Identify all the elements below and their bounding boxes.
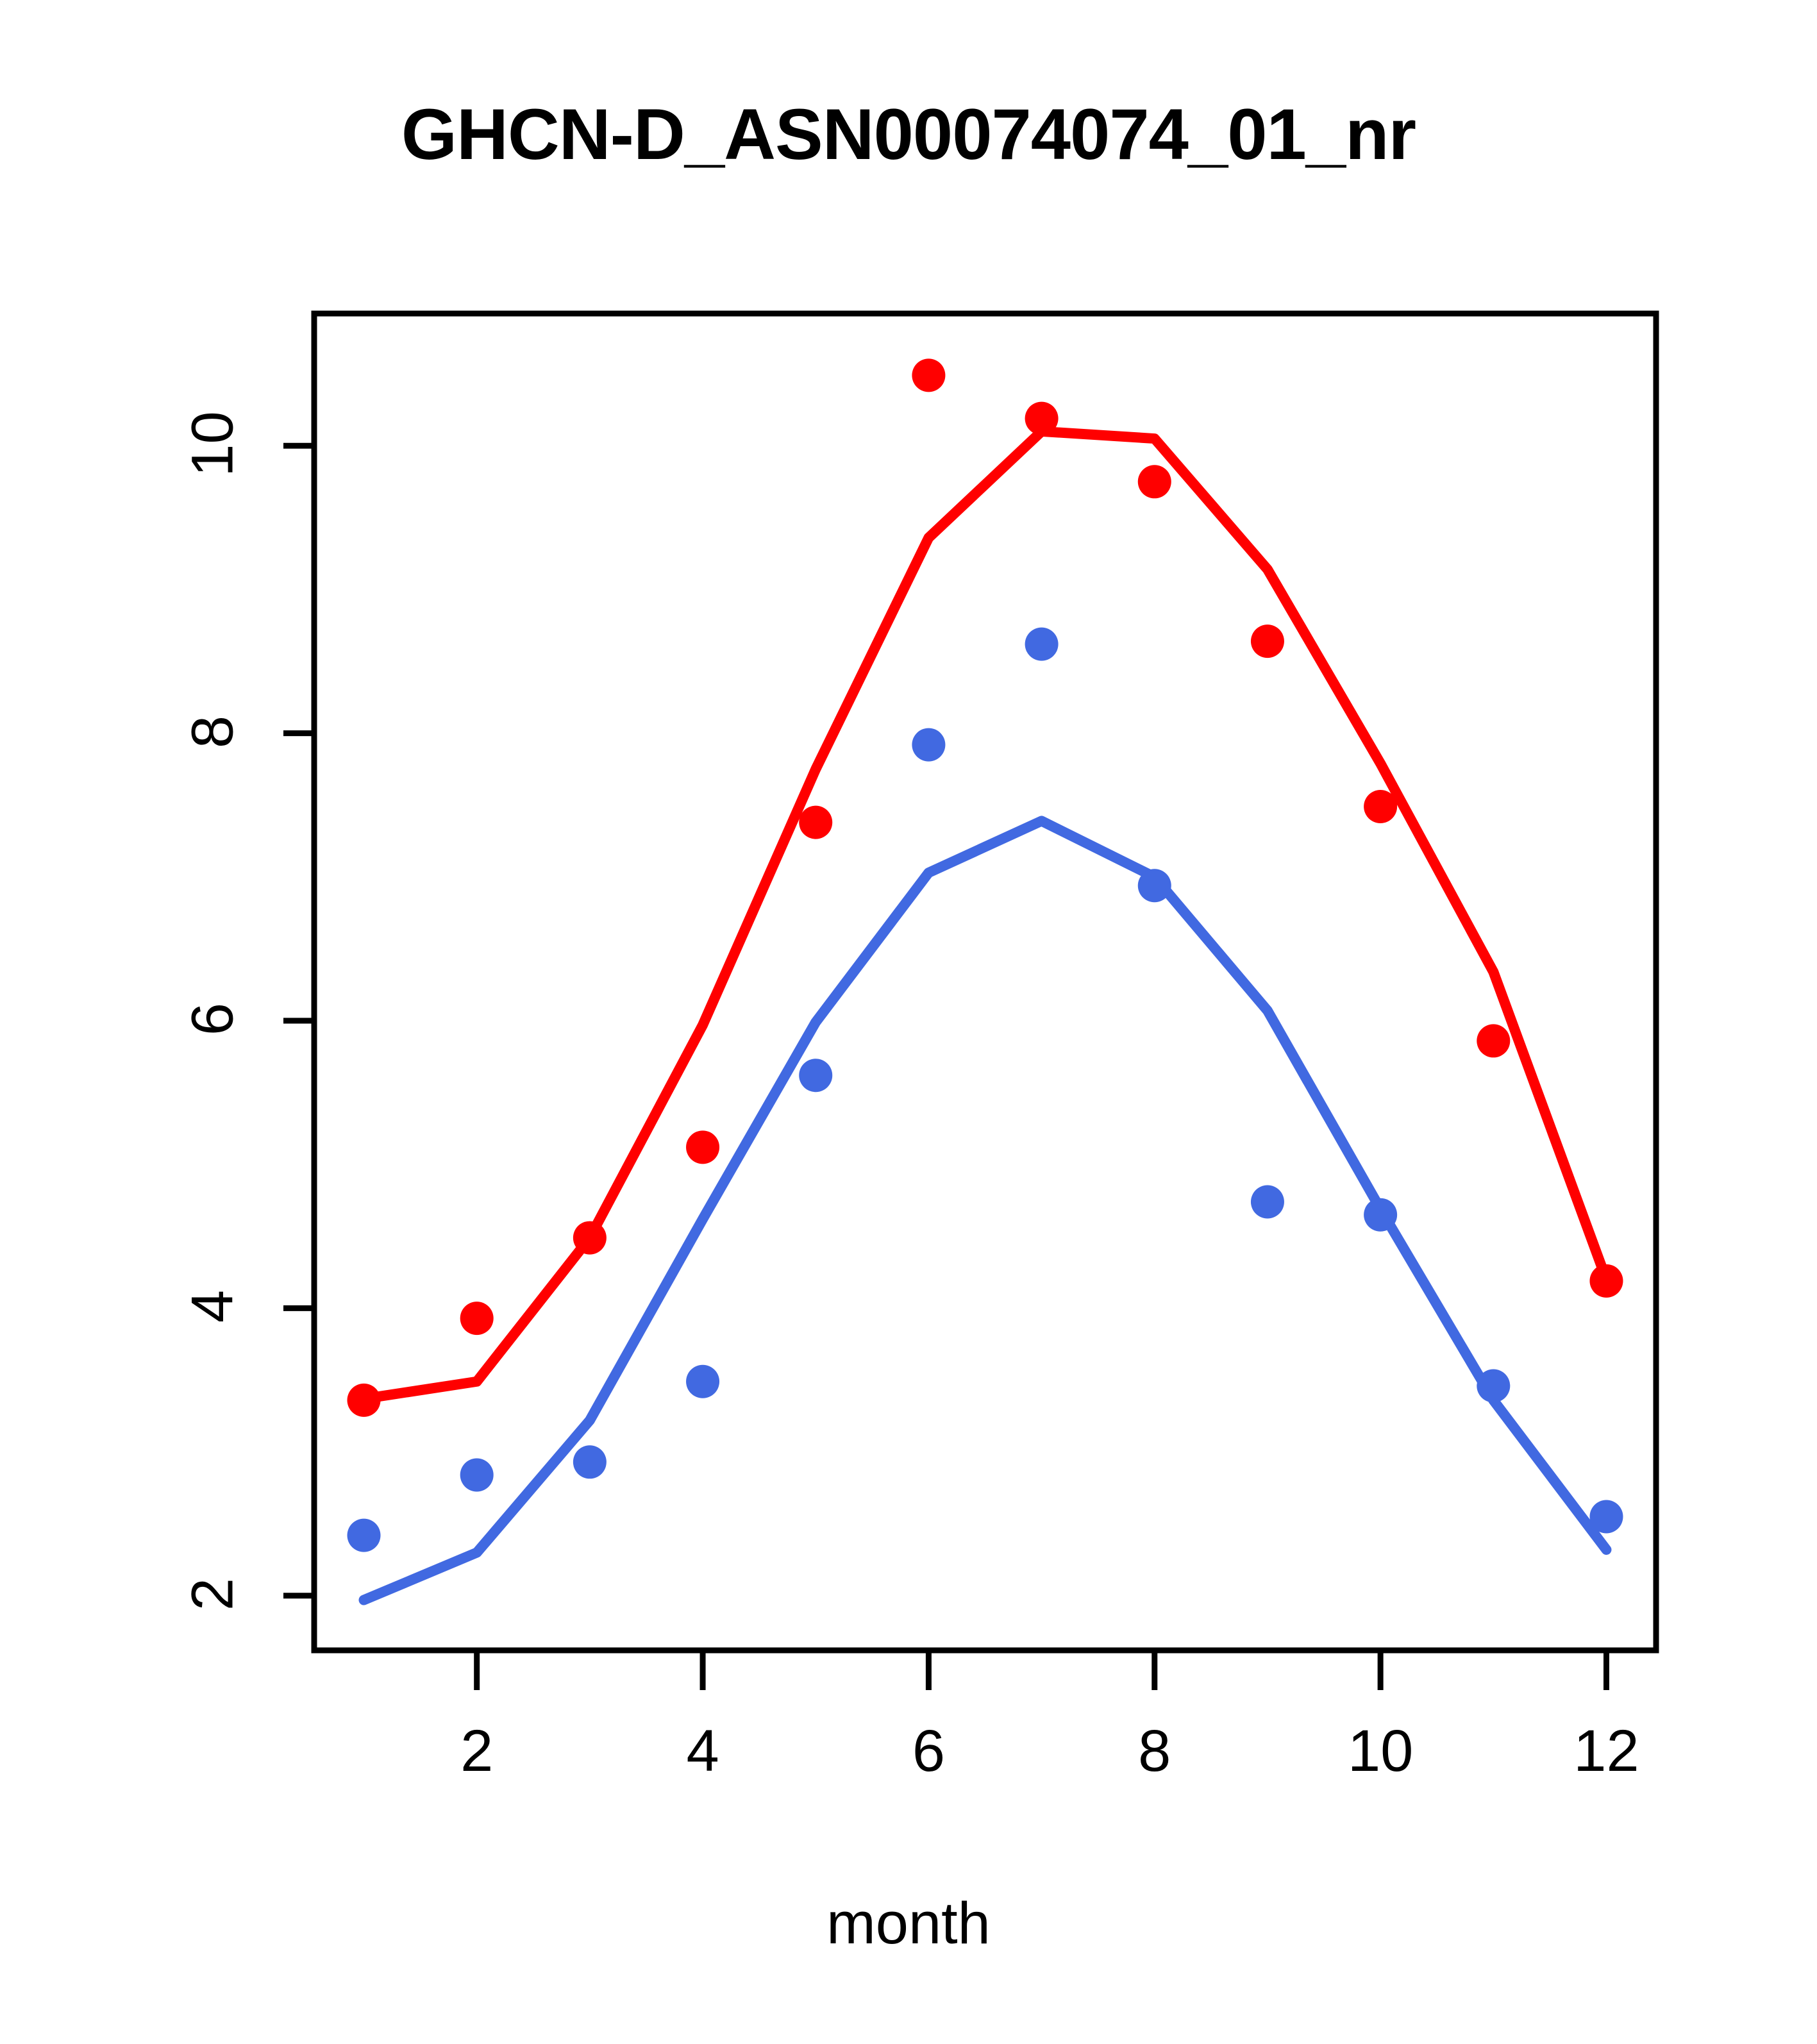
data-point bbox=[1477, 1024, 1510, 1057]
y-axis-tick-label: 10 bbox=[180, 380, 247, 508]
data-point bbox=[686, 1365, 719, 1398]
series-line-blue-line bbox=[364, 821, 1607, 1600]
y-axis-tick-label: 2 bbox=[180, 1530, 247, 1658]
data-point bbox=[799, 1059, 832, 1092]
data-point bbox=[1025, 628, 1059, 661]
data-point bbox=[1589, 1500, 1623, 1534]
data-point bbox=[460, 1302, 494, 1335]
data-point bbox=[1025, 402, 1059, 435]
x-axis-tick-label: 10 bbox=[1303, 1718, 1457, 1785]
data-point bbox=[1138, 869, 1171, 902]
data-point bbox=[347, 1519, 381, 1552]
data-point bbox=[1138, 465, 1171, 498]
data-point bbox=[460, 1458, 494, 1491]
x-axis-tick-label: 4 bbox=[626, 1718, 780, 1785]
data-point bbox=[1364, 1198, 1397, 1232]
x-axis-tick-label: 8 bbox=[1078, 1718, 1232, 1785]
y-axis-tick-label: 8 bbox=[180, 667, 247, 796]
data-point bbox=[1251, 624, 1284, 658]
data-point bbox=[1251, 1185, 1284, 1219]
series-line-red-line bbox=[364, 431, 1607, 1399]
x-axis-tick-label: 6 bbox=[851, 1718, 1005, 1785]
data-point bbox=[799, 806, 832, 839]
x-axis-tick-label: 2 bbox=[400, 1718, 554, 1785]
data-point bbox=[1364, 790, 1397, 823]
data-point bbox=[573, 1221, 607, 1255]
data-point bbox=[1589, 1264, 1623, 1298]
data-point bbox=[1477, 1369, 1510, 1402]
series-points-red-points bbox=[347, 358, 1623, 1417]
chart-page: GHCN-D_ASN00074074_01_nr month 246810246… bbox=[0, 0, 1817, 2044]
plot-frame bbox=[314, 314, 1656, 1650]
x-axis-tick-label: 12 bbox=[1529, 1718, 1683, 1785]
series-points-blue-points bbox=[347, 628, 1623, 1552]
y-axis-tick-label: 4 bbox=[180, 1243, 247, 1371]
data-point bbox=[912, 358, 945, 392]
data-point bbox=[573, 1445, 607, 1479]
data-point bbox=[912, 728, 945, 762]
x-axis-title: month bbox=[0, 1890, 1817, 1957]
data-point bbox=[347, 1384, 381, 1417]
data-point bbox=[686, 1130, 719, 1164]
y-axis-tick-label: 6 bbox=[180, 955, 247, 1084]
